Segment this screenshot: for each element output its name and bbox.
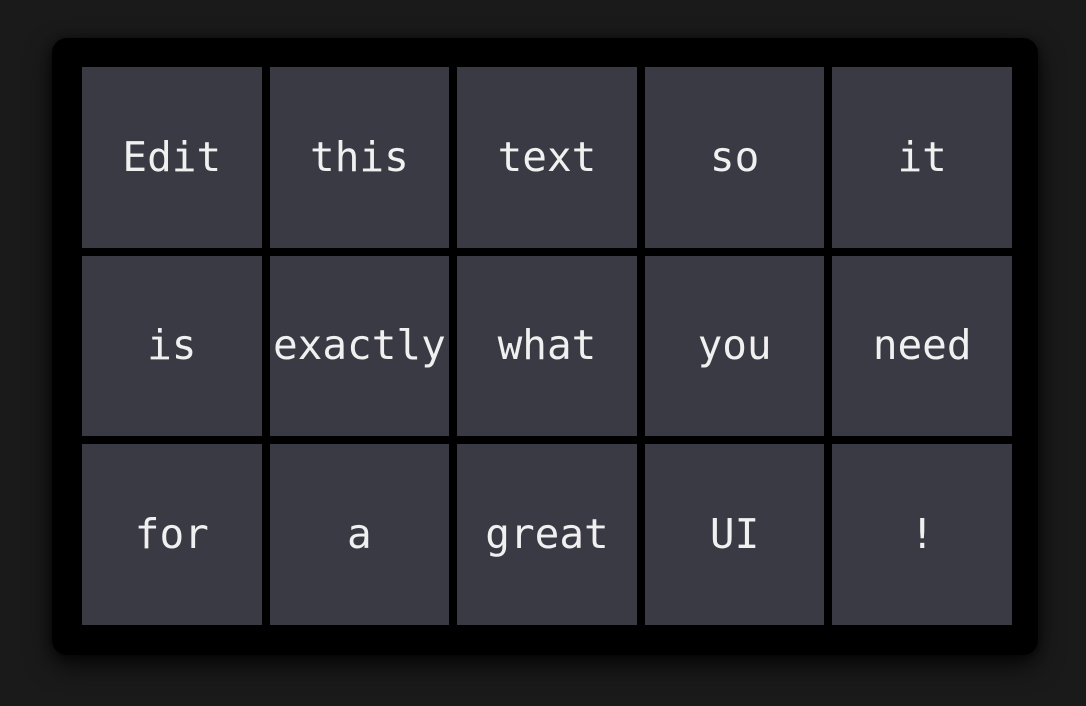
grid-cell[interactable]: you <box>645 256 825 437</box>
grid-cell[interactable]: a <box>270 444 450 625</box>
grid-cell[interactable]: great <box>457 444 637 625</box>
grid-cell[interactable]: so <box>645 67 825 248</box>
grid-cell[interactable]: exactly <box>270 256 450 437</box>
grid-cell[interactable]: is <box>82 256 262 437</box>
grid-cell-label: for <box>135 514 209 555</box>
grid-cell[interactable]: for <box>82 444 262 625</box>
grid-cell[interactable]: this <box>270 67 450 248</box>
grid-cell-label: UI <box>710 514 759 555</box>
grid-cell[interactable]: UI <box>645 444 825 625</box>
grid-cell-label: exactly <box>273 325 446 366</box>
grid-cell-label: is <box>147 325 196 366</box>
grid-cell-label: what <box>498 325 597 366</box>
grid-cell-label: this <box>310 137 409 178</box>
grid-cell-label: text <box>498 137 597 178</box>
grid-cell-label: great <box>485 514 608 555</box>
app-stage: Edit this text so it is exactly what <box>0 0 1086 706</box>
grid-cell[interactable]: what <box>457 256 637 437</box>
grid-cell-label: it <box>898 137 947 178</box>
grid-cell[interactable]: need <box>832 256 1012 437</box>
grid-cell[interactable]: ! <box>832 444 1012 625</box>
grid-cell-label: so <box>710 137 759 178</box>
grid-cell[interactable]: Edit <box>82 67 262 248</box>
grid-cell-label: Edit <box>122 137 221 178</box>
grid-cell[interactable]: it <box>832 67 1012 248</box>
grid-cell-label: a <box>347 514 372 555</box>
grid-cell[interactable]: text <box>457 67 637 248</box>
grid-cell-label: need <box>873 325 972 366</box>
grid-cell-label: you <box>698 325 772 366</box>
grid-cell-label: ! <box>910 514 935 555</box>
word-grid: Edit this text so it is exactly what <box>82 67 1012 625</box>
grid-panel: Edit this text so it is exactly what <box>52 38 1038 655</box>
